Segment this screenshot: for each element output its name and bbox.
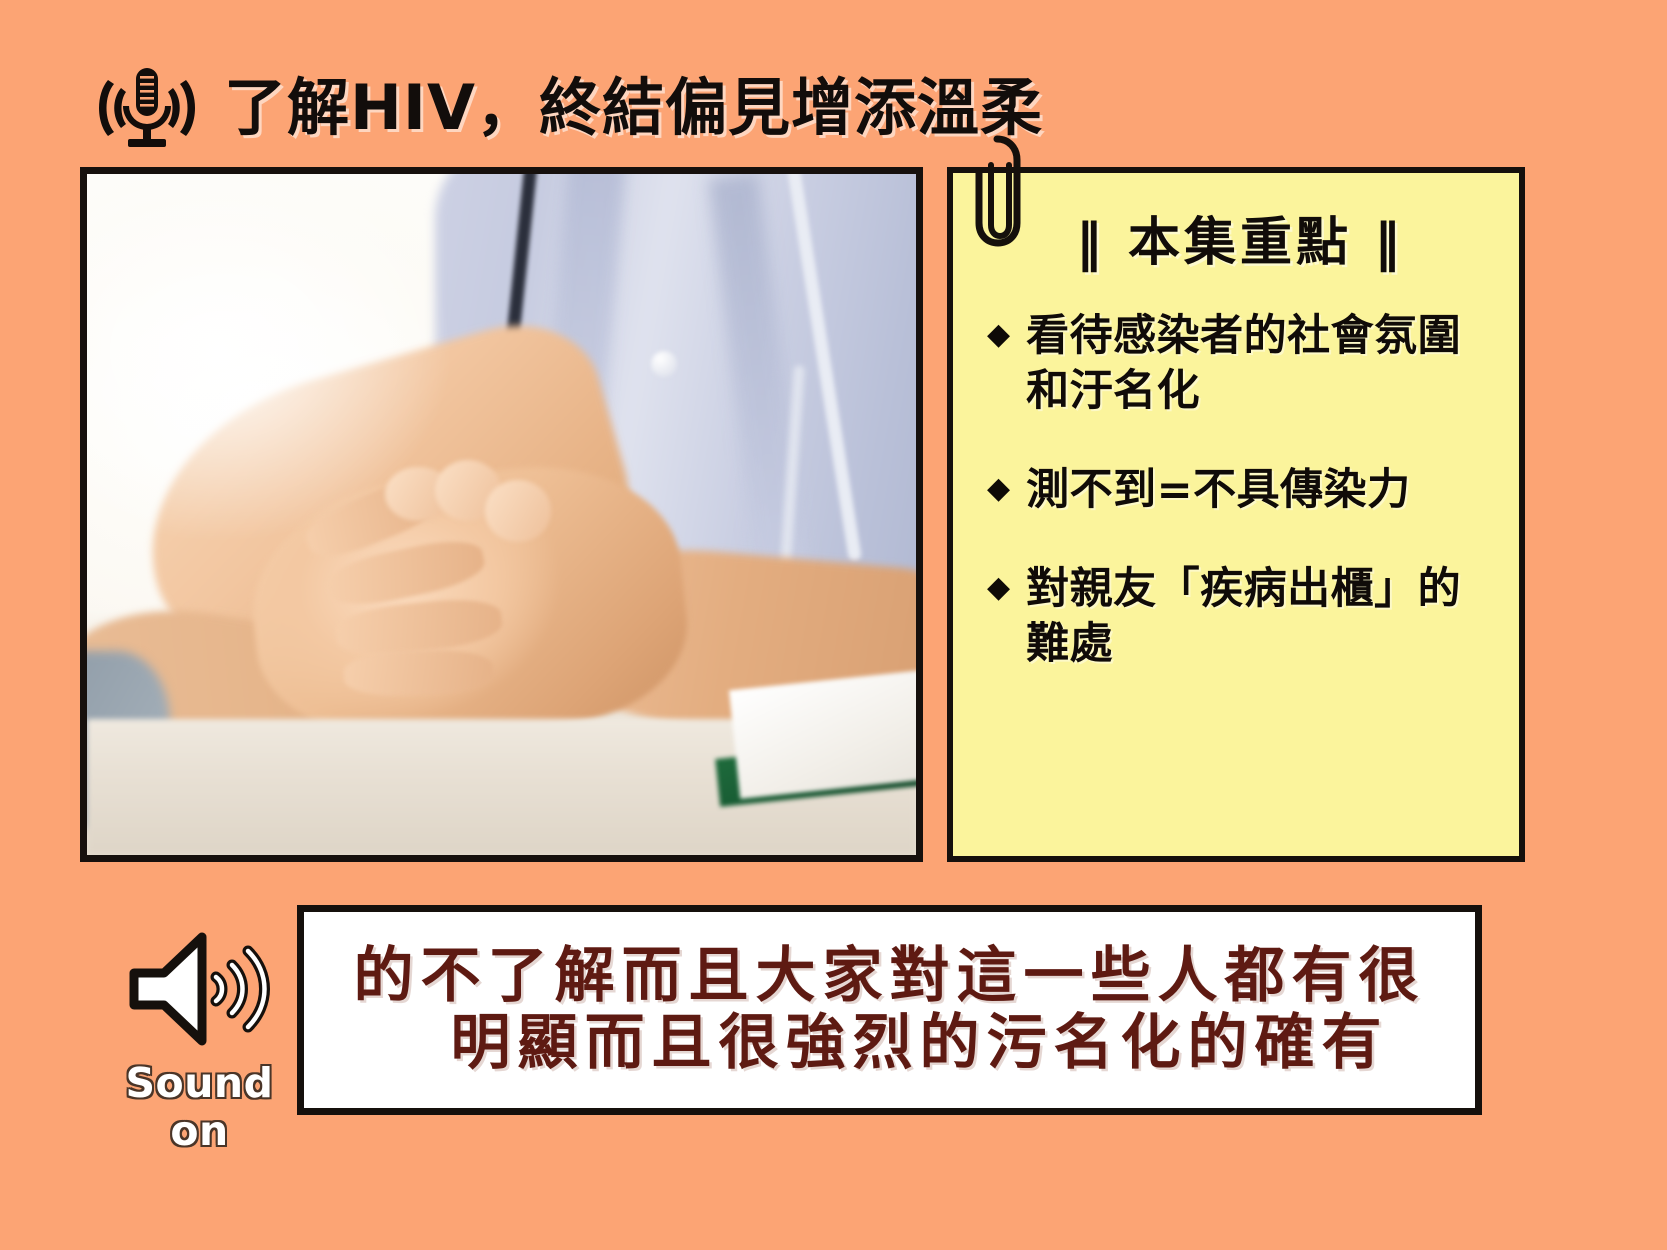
slide-header: 了解HIV，終結偏見增添溫柔 — [88, 55, 1043, 160]
list-item: ◆ 看待感染者的社會氛圍和汙名化 — [987, 309, 1493, 419]
podcast-microphone-icon — [88, 62, 206, 154]
subtitle-caption-box: 的不了解而且大家對這一些人都有很 明顯而且很強烈的污名化的確有 — [297, 905, 1482, 1115]
list-item: ◆ 測不到=不具傳染力 — [987, 463, 1493, 518]
paperclip-icon — [967, 131, 1021, 255]
photo-knuckle — [485, 480, 551, 541]
caption-line-2: 明顯而且很強烈的污名化的確有 — [391, 1010, 1389, 1077]
list-item-label: 看待感染者的社會氛圍和汙名化 — [1026, 309, 1493, 419]
sound-on-label: Sound on — [92, 1059, 307, 1155]
episode-photo — [80, 167, 923, 862]
caption-line-1: 的不了解而且大家對這一些人都有很 — [354, 943, 1426, 1010]
sound-on-indicator: Sound on — [92, 925, 307, 1155]
slide-canvas: 了解HIV，終結偏見增添溫柔 — [0, 0, 1667, 1250]
highlights-list: ◆ 看待感染者的社會氛圍和汙名化 ◆ 測不到=不具傳染力 ◆ 對親友「疾病出櫃」… — [987, 309, 1493, 672]
diamond-bullet-icon: ◆ — [987, 562, 1010, 610]
list-item-label: 對親友「疾病出櫃」的難處 — [1026, 562, 1493, 672]
list-item-label: 測不到=不具傳染力 — [1026, 463, 1411, 518]
note-heading: ‖ 本集重點 ‖ — [987, 217, 1493, 269]
episode-highlights-note: ‖ 本集重點 ‖ ◆ 看待感染者的社會氛圍和汙名化 ◆ 測不到=不具傳染力 ◆ … — [947, 167, 1525, 862]
page-title: 了解HIV，終結偏見增添溫柔 — [224, 77, 1043, 139]
diamond-bullet-icon: ◆ — [987, 309, 1010, 357]
diamond-bullet-icon: ◆ — [987, 463, 1010, 511]
photo-image — [87, 174, 916, 855]
photo-uniform-button — [651, 351, 677, 377]
list-item: ◆ 對親友「疾病出櫃」的難處 — [987, 562, 1493, 672]
speaker-volume-on-icon — [120, 925, 280, 1053]
